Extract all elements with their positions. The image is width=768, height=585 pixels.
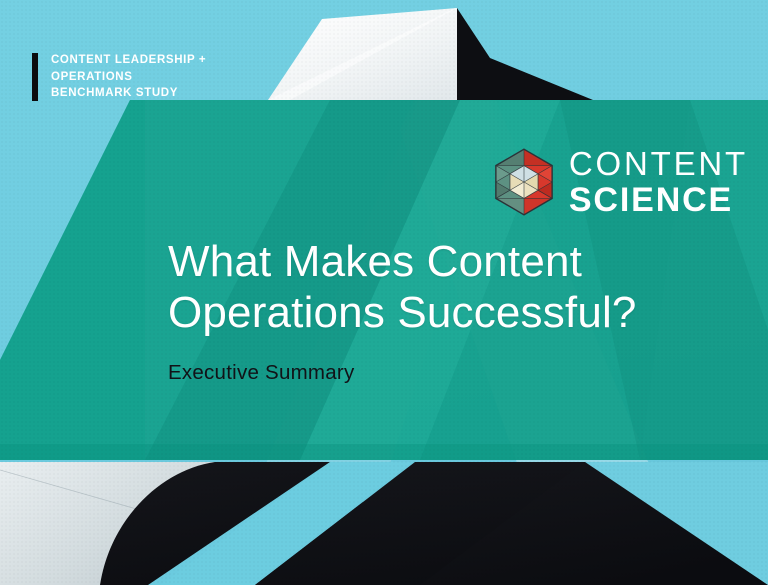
study-label-rule [32, 53, 38, 101]
report-cover-slide: CONTENT LEADERSHIP + OPERATIONS BENCHMAR… [0, 0, 768, 585]
title-block: What Makes Content Operations Successful… [168, 236, 768, 385]
page-subtitle: Executive Summary [168, 361, 768, 385]
content-science-logo[interactable]: CONTENT SCIENCE [493, 147, 748, 217]
logo-wordmark: CONTENT SCIENCE [569, 147, 748, 217]
study-label: CONTENT LEADERSHIP + OPERATIONS BENCHMAR… [32, 52, 206, 102]
logo-word-content: CONTENT [569, 147, 748, 180]
study-label-text: CONTENT LEADERSHIP + OPERATIONS BENCHMAR… [51, 52, 206, 102]
logo-word-science: SCIENCE [569, 183, 748, 217]
page-title: What Makes Content Operations Successful… [168, 236, 768, 338]
content-science-hexagon-logo-icon [493, 148, 555, 216]
